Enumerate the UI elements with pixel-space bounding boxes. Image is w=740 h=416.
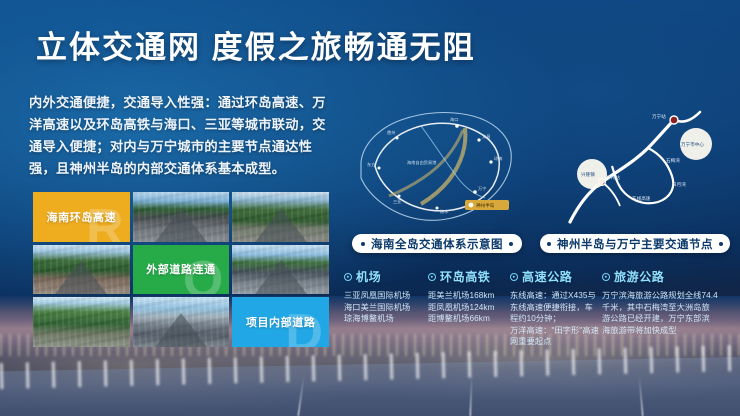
- road-perspective: [255, 208, 307, 242]
- slide-body-text: 内外交通便捷，交通导入性强：通过环岛高速、万洋高速以及环岛高铁与海口、三亚等城市…: [29, 92, 329, 180]
- column-header: 环岛高铁: [428, 268, 508, 285]
- info-column-airport: 机场 三亚凤凰国际机场 海口美兰国际机场 琼海博鳌机场: [342, 268, 426, 348]
- hainan-map-svg: 海口 文昌 琼海 万宁 陵水 三亚 东方 儋州 海南自由贸易港 神州半岛: [345, 100, 525, 235]
- svg-text:神州站: 神州站: [606, 174, 620, 181]
- info-line: 海口美兰国际机场: [344, 302, 426, 314]
- grid-label-text: 海南环岛高速: [47, 209, 117, 225]
- grid-label-tile: O 外部道路连通: [133, 245, 230, 295]
- shenzhou-peninsula-map: 万宁站 神州站 石梅湾 日月湾 东线高速 万宁市中心 兴隆镇: [540, 100, 725, 235]
- road-perspective: [155, 208, 207, 242]
- column-title: 环岛高铁: [440, 268, 490, 285]
- dot-ornament-icon: [719, 242, 723, 246]
- info-line: 距凤凰机场124km: [428, 302, 508, 314]
- grid-photo-tree-road: [232, 192, 329, 242]
- map-caption-shenzhou: 神州半岛与万宁主要交通节点: [540, 234, 730, 253]
- map-legend-label: 神州半岛: [476, 202, 495, 209]
- column-body: 万宁滨海旅游公路规划全线74.4千米，其中石梅湾至大洲岛旅游公路已经开建，万宁东…: [602, 290, 718, 336]
- photo-label-grid: R 海南环岛高速 O 外部道路连通: [33, 192, 329, 347]
- info-line: 琼海博鳌机场: [344, 313, 426, 325]
- dot-ornament-icon: [361, 242, 365, 246]
- svg-text:万宁: 万宁: [478, 185, 486, 192]
- info-line: 三亚凤凰国际机场: [344, 290, 426, 302]
- svg-text:兴隆镇: 兴隆镇: [581, 171, 595, 178]
- svg-text:海口: 海口: [450, 116, 458, 123]
- info-line: 东线高速：通过X435与东线高速便捷衔接，车程约10分钟；: [510, 290, 600, 325]
- column-title: 旅游公路: [614, 268, 664, 285]
- svg-text:文昌: 文昌: [482, 133, 490, 140]
- road-perspective: [255, 260, 307, 294]
- column-body: 距美兰机场168km 距凤凰机场124km 距博鳌机场66km: [428, 290, 508, 325]
- column-header: 旅游公路: [602, 268, 718, 285]
- info-line: 距博鳌机场66km: [428, 313, 508, 325]
- svg-text:三亚: 三亚: [393, 199, 401, 204]
- svg-text:海南自由贸易港: 海南自由贸易港: [407, 159, 437, 166]
- column-body: 东线高速：通过X435与东线高速便捷衔接，车程约10分钟； 万洋高速："田字形"…: [510, 290, 600, 348]
- map-caption-hainan: 海南全岛交通体系示意图: [352, 234, 522, 253]
- column-header: 机场: [344, 268, 426, 285]
- legend-marker-icon: [469, 203, 474, 208]
- grid-label-tile: D 项目内部道路: [232, 297, 329, 347]
- grid-photo-boulevard: [232, 245, 329, 295]
- info-line: 万洋高速："田字形"高速网重要起点: [510, 325, 600, 348]
- bullet-ring-icon: [344, 273, 352, 281]
- grid-label-tile: R 海南环岛高速: [33, 192, 130, 242]
- grid-label-text: 项目内部道路: [246, 314, 316, 330]
- map-node-labels: 万宁站 神州站 石梅湾 日月湾 东线高速: [606, 113, 686, 202]
- info-column-expressway: 高速公路 东线高速：通过X435与东线高速便捷衔接，车程约10分钟； 万洋高速：…: [508, 268, 600, 348]
- column-body: 三亚凤凰国际机场 海口美兰国际机场 琼海博鳌机场: [344, 290, 426, 325]
- dot-ornament-icon: [509, 242, 513, 246]
- column-header: 高速公路: [510, 268, 600, 285]
- city-nodes: [378, 124, 493, 209]
- road-perspective: [55, 260, 107, 294]
- svg-text:东线高速: 东线高速: [632, 195, 651, 202]
- photo-texture: [33, 297, 130, 347]
- svg-text:琼海: 琼海: [494, 155, 503, 162]
- svg-text:万宁站: 万宁站: [652, 113, 666, 120]
- connector-road: [602, 182, 620, 206]
- road-perspective: [155, 313, 207, 347]
- svg-text:石梅湾: 石梅湾: [666, 157, 680, 164]
- info-column-high-speed-rail: 环岛高铁 距美兰机场168km 距凤凰机场124km 距博鳌机场66km: [426, 268, 508, 348]
- svg-text:儋州: 儋州: [387, 129, 395, 136]
- transport-info-columns: 机场 三亚凤凰国际机场 海口美兰国际机场 琼海博鳌机场 环岛高铁 距美兰机场16…: [342, 268, 732, 348]
- column-title: 机场: [356, 268, 381, 285]
- svg-text:东方: 东方: [367, 161, 375, 168]
- grid-label-text: 外部道路连通: [146, 261, 216, 277]
- grid-photo-avenue: [33, 245, 130, 295]
- bullet-ring-icon: [510, 273, 518, 281]
- hainan-island-map: 海口 文昌 琼海 万宁 陵水 三亚 东方 儋州 海南自由贸易港 神州半岛: [345, 100, 525, 235]
- peninsula-loop-road: [612, 148, 673, 203]
- svg-text:万宁市中心: 万宁市中心: [681, 141, 704, 148]
- grid-photo-park-walkway: [33, 297, 130, 347]
- bullet-ring-icon: [602, 273, 610, 281]
- svg-text:日月湾: 日月湾: [672, 181, 686, 188]
- presentation-slide: 立体交通网 度假之旅畅通无阻 内外交通便捷，交通导入性强：通过环岛高速、万洋高速…: [0, 0, 740, 416]
- info-line: 距美兰机场168km: [428, 290, 508, 302]
- column-title: 高速公路: [522, 268, 572, 285]
- shenzhou-map-svg: 万宁站 神州站 石梅湾 日月湾 东线高速 万宁市中心 兴隆镇: [540, 100, 725, 235]
- caption-text: 海南全岛交通体系示意图: [371, 236, 503, 252]
- grid-photo-highway: [133, 192, 230, 242]
- slide-title: 立体交通网 度假之旅畅通无阻: [36, 22, 476, 67]
- info-line: 万宁滨海旅游公路规划全线74.4千米，其中石梅湾至大洲岛旅游公路已经开建，万宁东…: [602, 290, 718, 336]
- bullet-ring-icon: [428, 273, 436, 281]
- station-node-wanning: [670, 116, 678, 124]
- caption-text: 神州半岛与万宁主要交通节点: [557, 236, 713, 252]
- info-column-tourism-road: 旅游公路 万宁滨海旅游公路规划全线74.4千米，其中石梅湾至大洲岛旅游公路已经开…: [600, 268, 718, 348]
- svg-text:陵水: 陵水: [440, 208, 449, 215]
- dot-ornament-icon: [547, 242, 551, 246]
- grid-photo-coastal-bridge: [133, 297, 230, 347]
